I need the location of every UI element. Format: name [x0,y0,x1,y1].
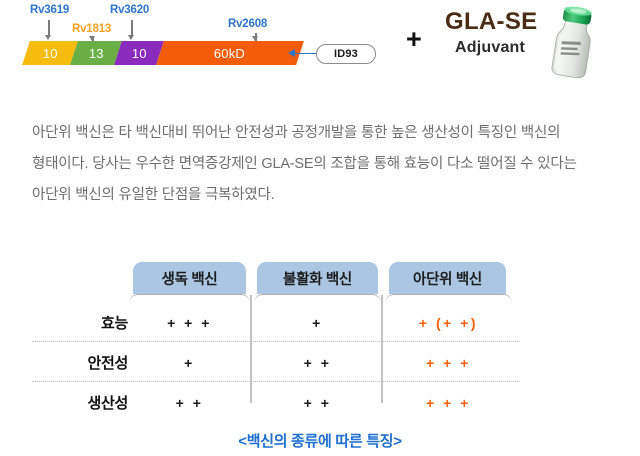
table-row-separator-2 [32,381,520,382]
table-cell-efficacy-subunit: + (+ +) [385,312,512,334]
table-row-label-safety: 안전성 [18,352,128,373]
table-column-body-inactivated [254,294,381,404]
adjuvant-title: GLA-SE [445,8,537,36]
segment-rv2608-value: 60kD [214,46,245,61]
segment-rv3619: 10 [22,41,78,65]
table-cell-safety-subunit: + + + [385,352,512,374]
table-column-body-live [129,294,250,404]
table-row-separator-1 [32,341,520,342]
vaccine-vial-icon [548,4,602,82]
table-cell-productivity-inactivated: + + [254,392,381,414]
table-column-header-live: 생독 백신 [133,262,246,294]
plus-sign: + [406,24,422,55]
segment-rv3619-value: 10 [43,46,58,61]
table-cell-safety-live: + [129,352,250,374]
pointer-arrow-rv3620 [128,35,134,40]
table-column-header-subunit: 아단위 백신 [389,262,506,294]
table-column-separator-2 [381,295,383,403]
description-paragraph: 아단위 백신은 타 백신대비 뛰어난 안전성과 공정개발을 통한 높은 생산성이… [32,118,612,211]
table-cell-efficacy-live: + + + [129,312,250,334]
table-row-label-productivity: 생산성 [18,392,128,413]
table-column-separator-1 [250,295,252,403]
segment-rv3620-value: 10 [132,46,147,61]
gene-label-rv2608: Rv2608 [228,18,267,30]
segment-rv2608: 60kD [156,41,304,65]
table-cell-productivity-live: + + [129,392,250,414]
gene-label-rv1813: Rv1813 [72,23,111,35]
pointer-line-rv3619 [48,20,50,36]
comparison-table: 생독 백신 불활화 백신 아단위 백신 효능 + + + + + (+ +) 안… [0,262,640,427]
id93-label: ID93 [316,44,376,64]
gene-label-rv3619: Rv3619 [30,4,69,16]
table-cell-efficacy-inactivated: + [254,312,381,334]
adjuvant-subtitle: Adjuvant [455,39,525,57]
table-cell-safety-inactivated: + + [254,352,381,374]
vaccine-construct-diagram: Rv3619 Rv1813 Rv3620 Rv2608 10 13 10 60k… [0,0,640,100]
table-caption: <백신의 종류에 따른 특징> [0,430,640,451]
id93-connector [294,53,316,55]
table-column-header-inactivated: 불활화 백신 [257,262,378,294]
table-cell-productivity-subunit: + + + [385,392,512,414]
gene-label-rv3620: Rv3620 [110,4,149,16]
table-row-label-efficacy: 효능 [18,312,128,333]
pointer-arrow-rv3619 [45,35,51,40]
pointer-line-rv3620 [131,20,133,36]
segment-rv1813-value: 13 [89,46,104,61]
table-column-body-subunit [385,294,512,404]
